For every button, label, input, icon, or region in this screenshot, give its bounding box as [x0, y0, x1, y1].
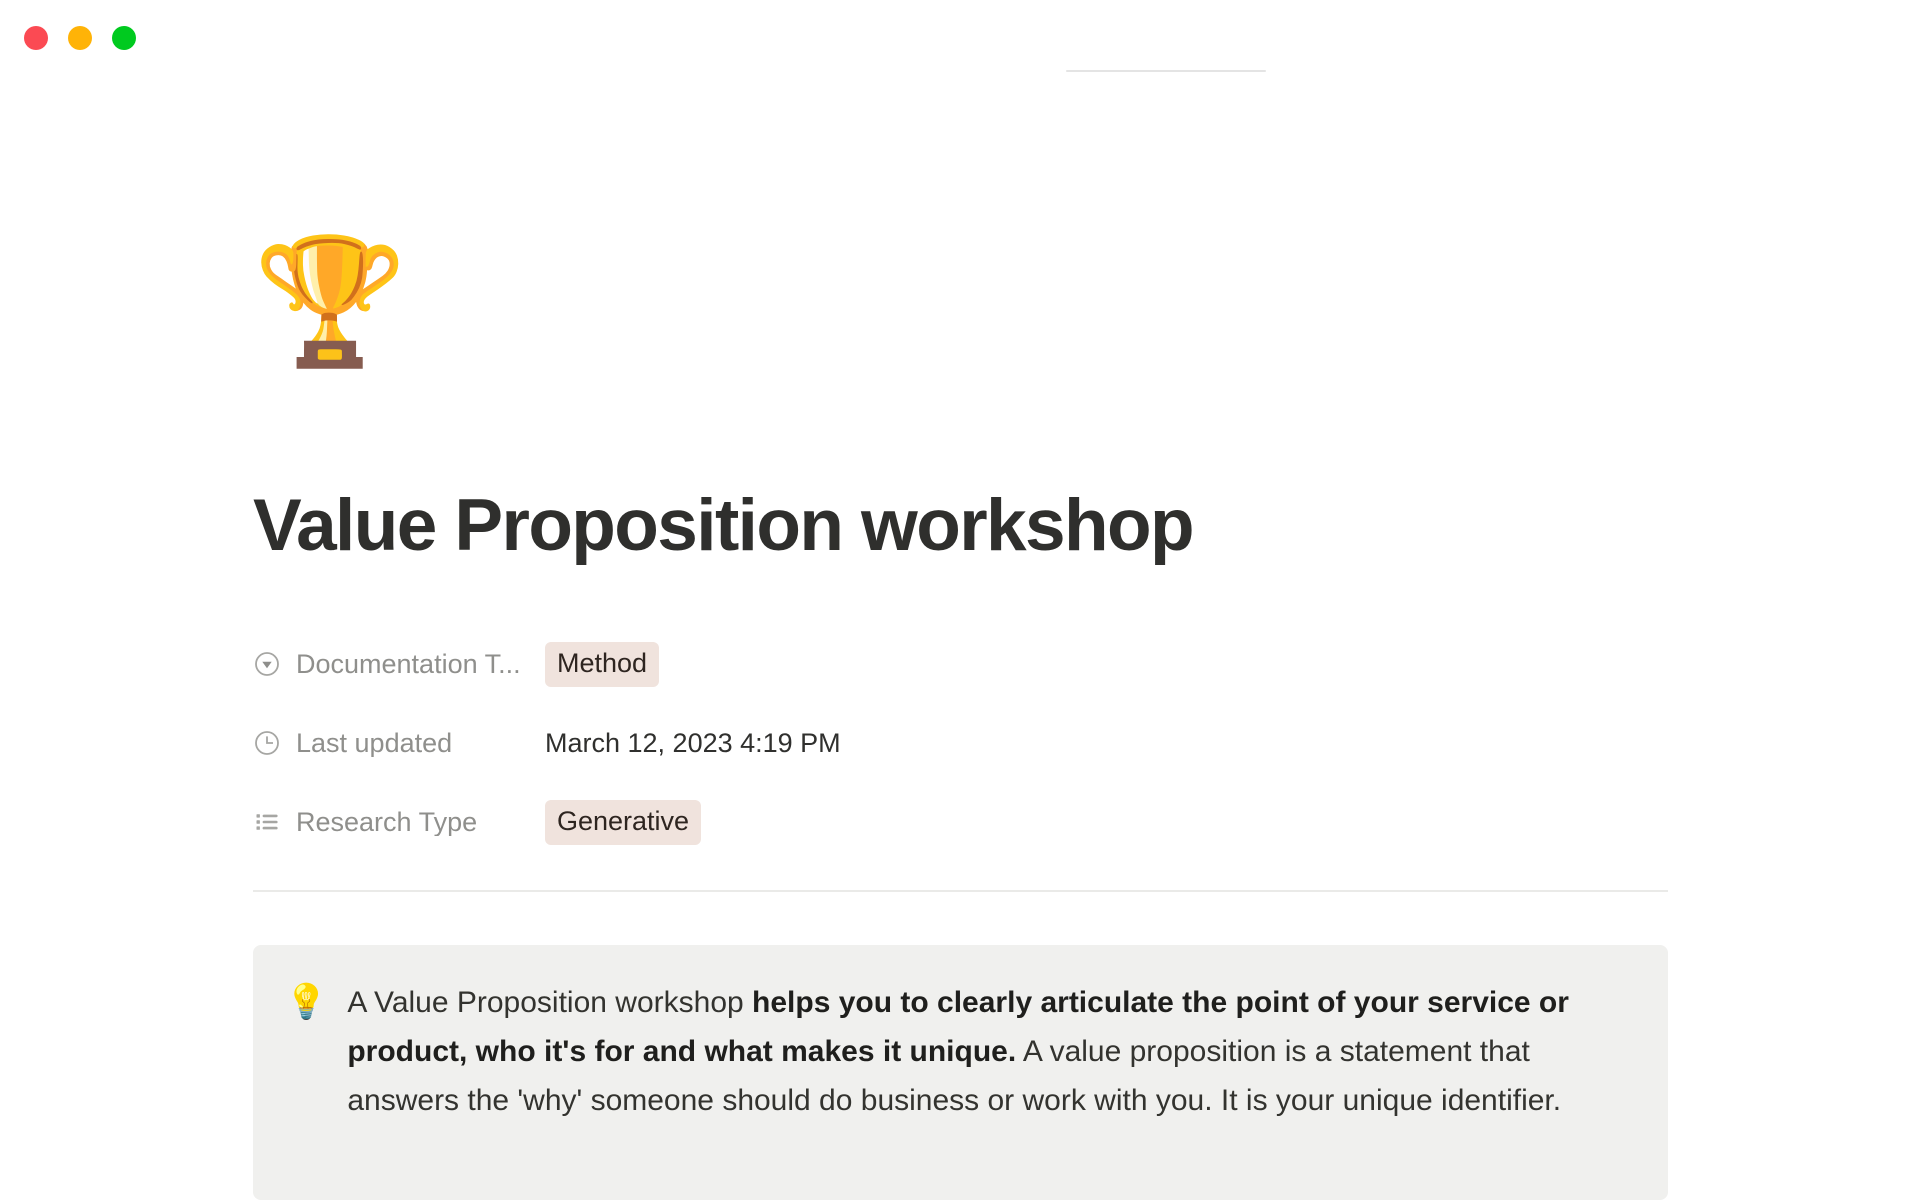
property-value-last-updated[interactable]: March 12, 2023 4:19 PM — [545, 730, 841, 757]
traffic-light-controls — [24, 26, 136, 50]
property-row-documentation-type[interactable]: Documentation T... Method — [253, 636, 1668, 692]
tag-generative[interactable]: Generative — [545, 800, 701, 845]
property-label-research-type[interactable]: Research Type — [253, 808, 545, 836]
property-value-documentation-type[interactable]: Method — [545, 642, 659, 687]
select-chevron-circle-icon — [253, 650, 281, 678]
window-chrome — [0, 0, 1920, 88]
tag-method[interactable]: Method — [545, 642, 659, 687]
minimize-window-button[interactable] — [68, 26, 92, 50]
maximize-window-button[interactable] — [112, 26, 136, 50]
property-label-text: Research Type — [296, 809, 477, 836]
callout-lead-text: A Value Proposition workshop — [347, 986, 752, 1019]
clock-icon — [253, 729, 281, 757]
page-title[interactable]: Value Proposition workshop — [253, 486, 1193, 566]
close-window-button[interactable] — [24, 26, 48, 50]
property-label-documentation-type[interactable]: Documentation T... — [253, 650, 545, 678]
content-divider — [253, 890, 1668, 892]
page-properties: Documentation T... Method Last updated — [253, 636, 1668, 850]
callout-text[interactable]: A Value Proposition workshop helps you t… — [347, 978, 1630, 1125]
multi-select-list-icon — [253, 808, 281, 836]
property-label-last-updated[interactable]: Last updated — [253, 729, 545, 757]
property-value-research-type[interactable]: Generative — [545, 800, 701, 845]
callout-block[interactable]: 💡 A Value Proposition workshop helps you… — [253, 945, 1668, 1200]
property-label-text: Last updated — [296, 730, 452, 757]
toolbar-underline — [1066, 70, 1266, 72]
property-row-research-type[interactable]: Research Type Generative — [253, 794, 1668, 850]
trophy-emoji[interactable]: 🏆 — [253, 240, 407, 364]
light-bulb-emoji[interactable]: 💡 — [285, 978, 327, 1026]
property-label-text: Documentation T... — [296, 651, 521, 678]
property-row-last-updated[interactable]: Last updated March 12, 2023 4:19 PM — [253, 715, 1668, 771]
page-root: 🏆 Value Proposition workshop Documentati… — [0, 0, 1920, 1200]
